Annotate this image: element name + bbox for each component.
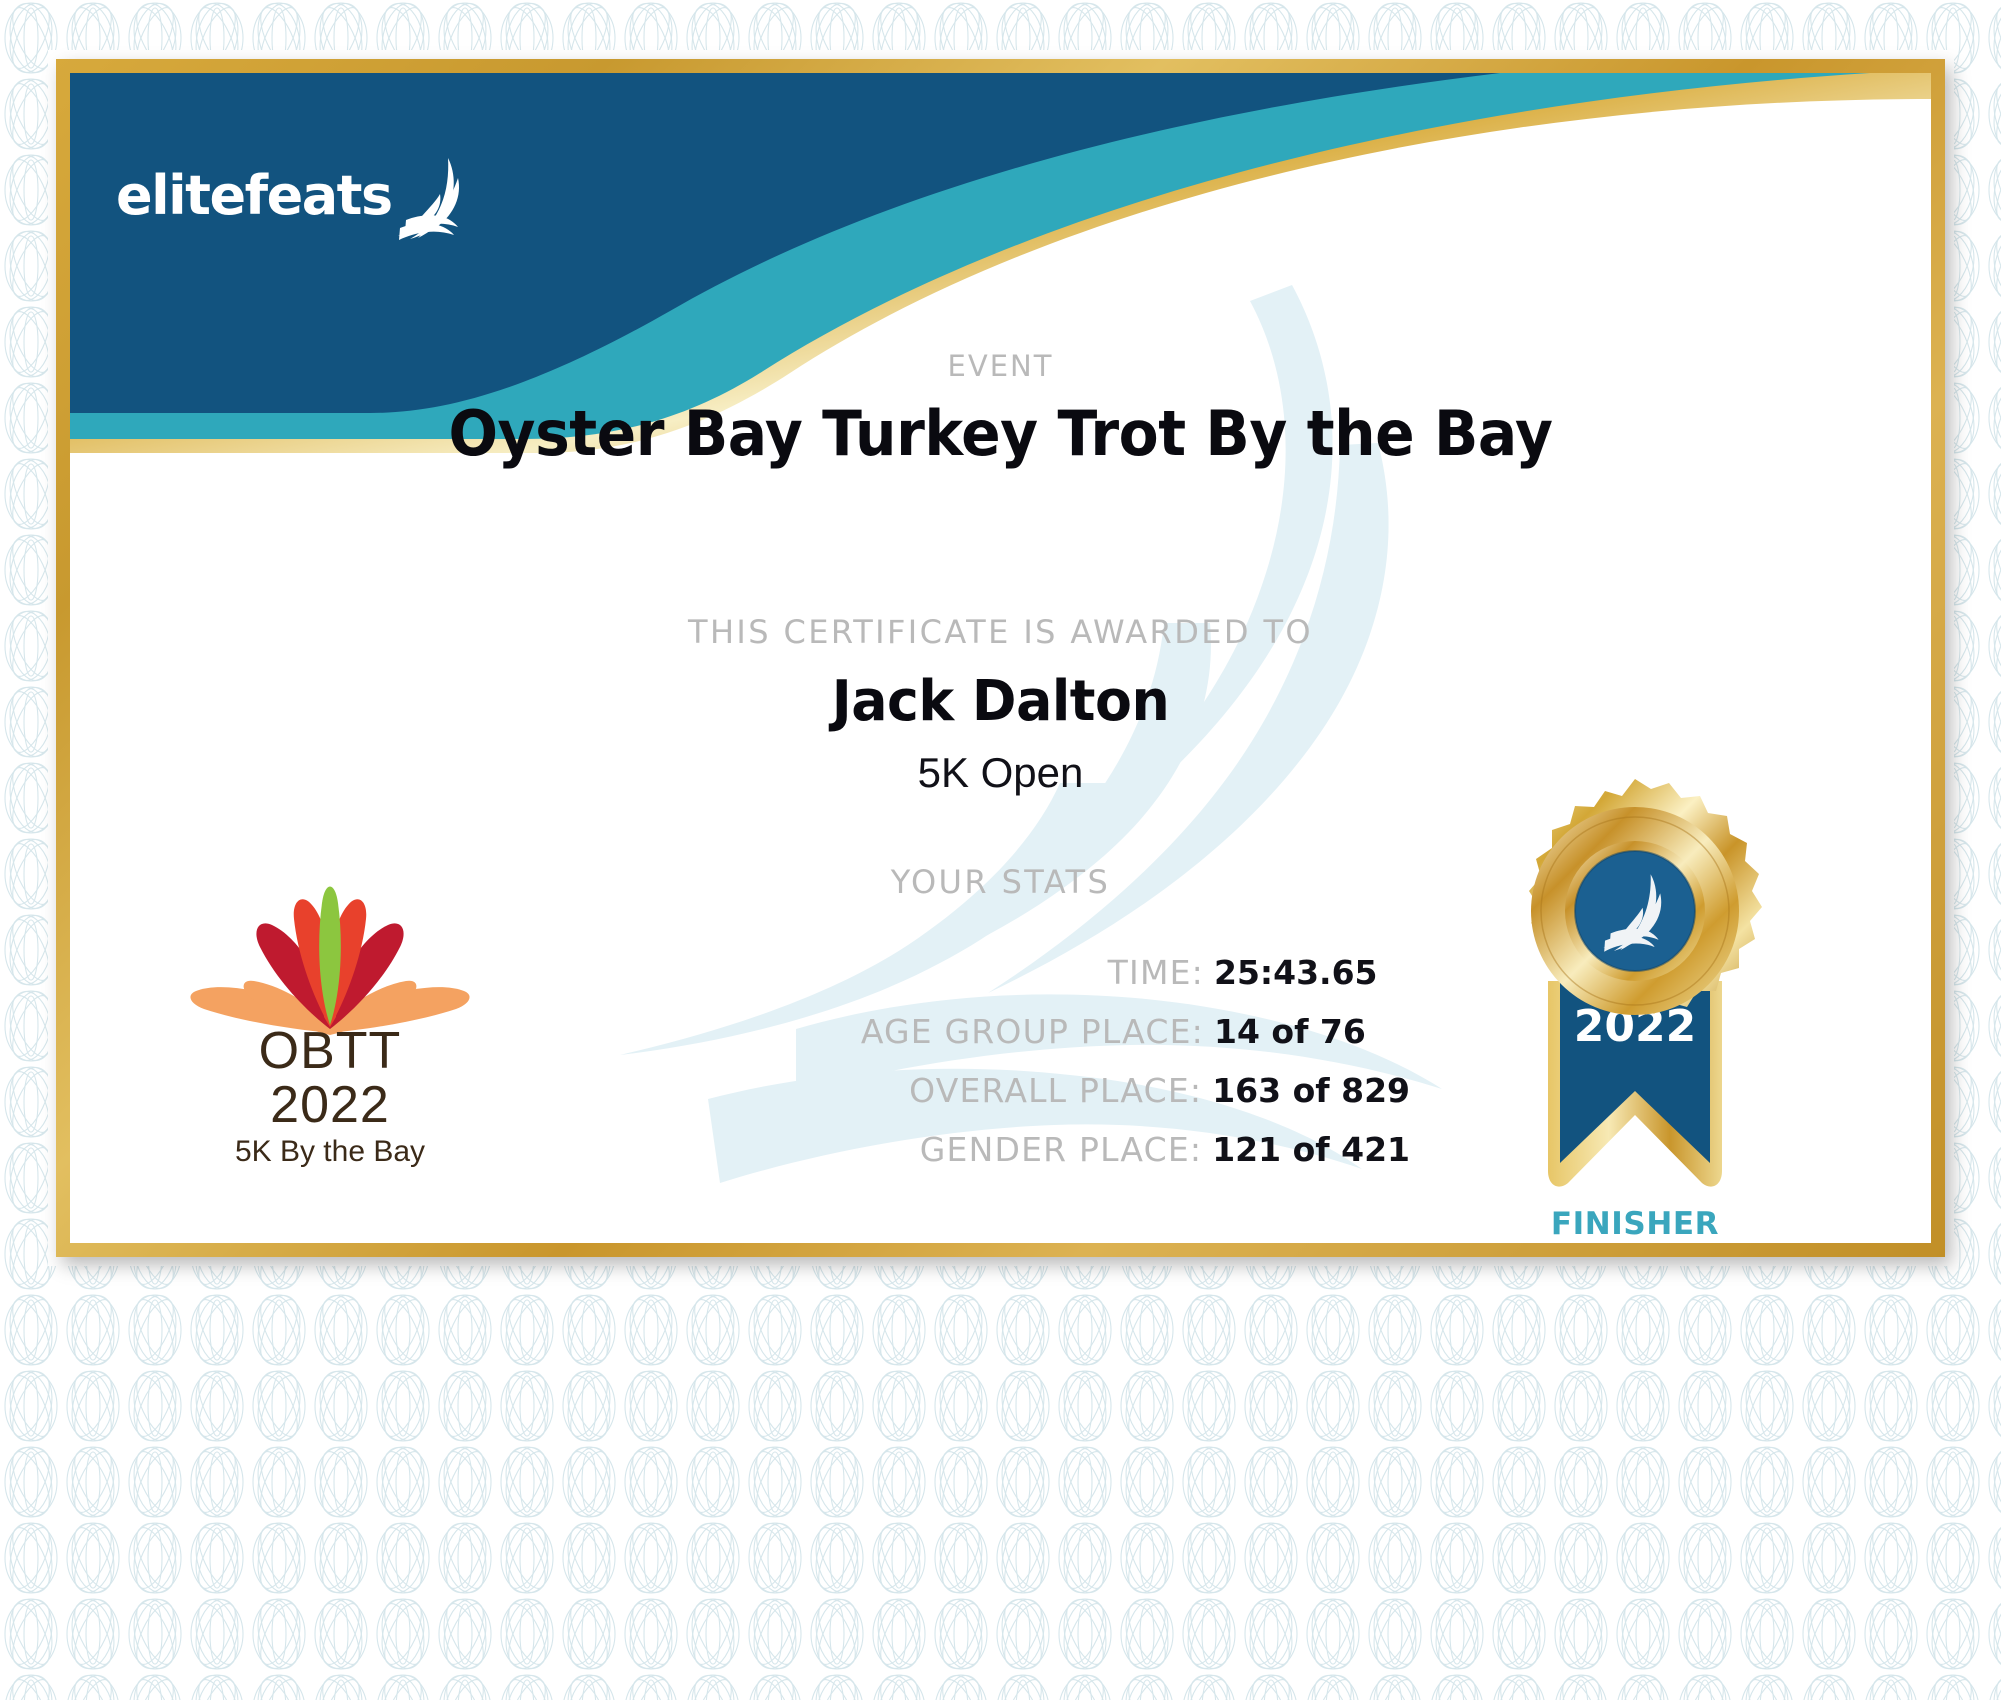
event-title: Oyster Bay Turkey Trot By the Bay — [126, 397, 1875, 470]
stat-key-overall-place: OVERALL PLACE: — [909, 1071, 1202, 1110]
badge-caption: FINISHER CERTIFICATE — [1470, 1207, 1800, 1243]
stat-row-time: TIME: 25:43.65 — [330, 953, 1410, 992]
stat-value-overall-place: 163 of 829 — [1212, 1071, 1410, 1110]
winged-foot-icon — [396, 154, 466, 240]
certificate-body: elitefeats EVENT Oyster Bay Turkey Trot … — [70, 73, 1931, 1243]
event-logo-abbrev: OBTT — [180, 1025, 480, 1077]
stat-row-overall-place: OVERALL PLACE: 163 of 829 — [330, 1071, 1410, 1110]
event-logo-year: 2022 — [180, 1079, 480, 1131]
stat-key-time: TIME: — [1108, 953, 1204, 992]
badge-caption-line2: CERTIFICATE — [1470, 1242, 1800, 1243]
gold-border-frame: elitefeats EVENT Oyster Bay Turkey Trot … — [56, 59, 1945, 1257]
medal-ribbon-graphic: 2022 — [1470, 773, 1800, 1203]
header-decorative-curves — [70, 73, 1931, 453]
stat-value-age-group-place: 14 of 76 — [1214, 1012, 1410, 1051]
stat-value-gender-place: 121 of 421 — [1212, 1130, 1410, 1169]
stats-table: TIME: 25:43.65 AGE GROUP PLACE: 14 of 76… — [330, 953, 1410, 1189]
stat-row-age-group-place: AGE GROUP PLACE: 14 of 76 — [330, 1012, 1410, 1051]
stat-key-gender-place: GENDER PLACE: — [920, 1130, 1202, 1169]
recipient-name: Jack Dalton — [107, 669, 1894, 734]
stat-value-time: 25:43.65 — [1214, 953, 1410, 992]
event-logo: OBTT 2022 5K By the Bay — [180, 843, 480, 1183]
stat-key-age-group-place: AGE GROUP PLACE: — [861, 1012, 1204, 1051]
elitefeats-logo: elitefeats — [116, 141, 466, 251]
event-label: EVENT — [70, 349, 1931, 383]
turkey-feathers-icon — [180, 843, 480, 1043]
stat-row-gender-place: GENDER PLACE: 121 of 421 — [330, 1130, 1410, 1169]
awarded-to-label: THIS CERTIFICATE IS AWARDED TO — [70, 613, 1931, 651]
certificate-page: elitefeats EVENT Oyster Bay Turkey Trot … — [0, 0, 2001, 1700]
brand-wordmark: elitefeats — [116, 169, 392, 223]
finisher-badge: 2022 — [1470, 773, 1800, 1243]
event-logo-tagline: 5K By the Bay — [180, 1137, 480, 1167]
badge-caption-line1: FINISHER — [1470, 1207, 1800, 1242]
